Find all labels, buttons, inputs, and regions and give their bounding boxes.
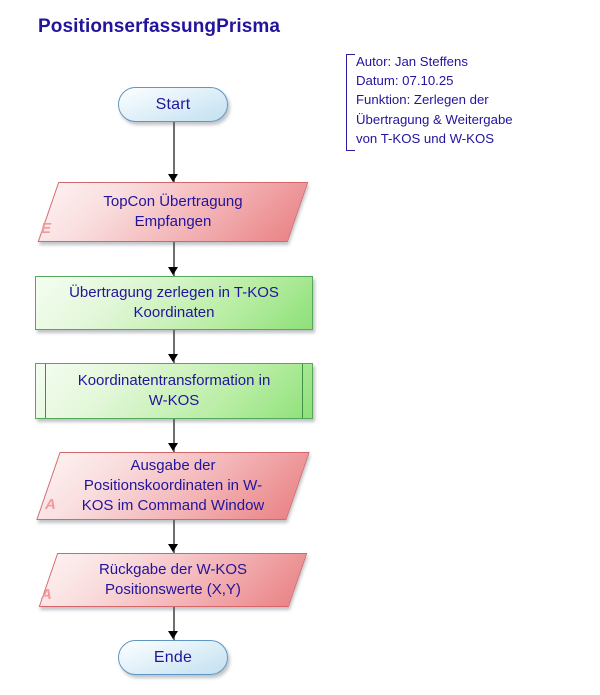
node-start-label: Start — [156, 95, 191, 115]
node-uebertragung-zerlegen[interactable]: Übertragung zerlegen in T-KOS Koordinate… — [35, 276, 313, 330]
arrowhead-transform-to-ausgabe — [168, 443, 178, 451]
node-uebertragung-zerlegen-label: Übertragung zerlegen in T-KOS Koordinate… — [69, 283, 279, 323]
arrowhead-zerlegen-to-transform — [168, 354, 178, 362]
page-title: PositionserfassungPrisma — [38, 16, 280, 38]
node-rueckgabe-positionswerte-surface — [39, 553, 308, 607]
info-line-date: Datum: 07.10.25 — [356, 71, 562, 90]
flowchart-canvas: PositionserfassungPrisma Autor: Jan Stef… — [0, 0, 600, 695]
connector-start-to-topcon — [173, 122, 175, 182]
node-rueckgabe-positionswerte[interactable]: Rückgabe der W-KOS Positionswerte (X,Y) … — [48, 553, 298, 607]
node-ende-label: Ende — [154, 648, 192, 668]
node-topcon-empfangen[interactable]: TopCon Übertragung Empfangen E — [48, 182, 298, 242]
arrowhead-rueckgabe-to-ende — [168, 631, 178, 639]
subroutine-right-bar-icon — [302, 364, 303, 418]
node-koordinatentransformation[interactable]: Koordinatentransformation in W-KOS — [35, 363, 313, 419]
info-line-detail-2: von T-KOS und W-KOS — [356, 129, 562, 148]
arrowhead-ausgabe-to-rueckgabe — [168, 544, 178, 552]
node-ausgabe-command-window-surface — [36, 452, 309, 520]
subroutine-left-bar-icon — [45, 364, 46, 418]
arrowhead-topcon-to-zerlegen — [168, 267, 178, 275]
node-topcon-empfangen-surface — [38, 182, 309, 242]
arrowhead-start-to-topcon — [168, 174, 178, 182]
info-annotation-block: Autor: Jan Steffens Datum: 07.10.25 Funk… — [346, 52, 562, 148]
bracket-icon — [346, 54, 355, 151]
node-koordinatentransformation-label: Koordinatentransformation in W-KOS — [78, 371, 271, 411]
info-line-detail-1: Übertragung & Weitergabe — [356, 110, 562, 129]
node-start[interactable]: Start — [118, 87, 228, 122]
info-line-author: Autor: Jan Steffens — [356, 52, 562, 71]
node-ende[interactable]: Ende — [118, 640, 228, 675]
node-ausgabe-command-window[interactable]: Ausgabe der Positionskoordinaten in W- K… — [48, 452, 298, 520]
info-line-function: Funktion: Zerlegen der — [356, 90, 562, 109]
